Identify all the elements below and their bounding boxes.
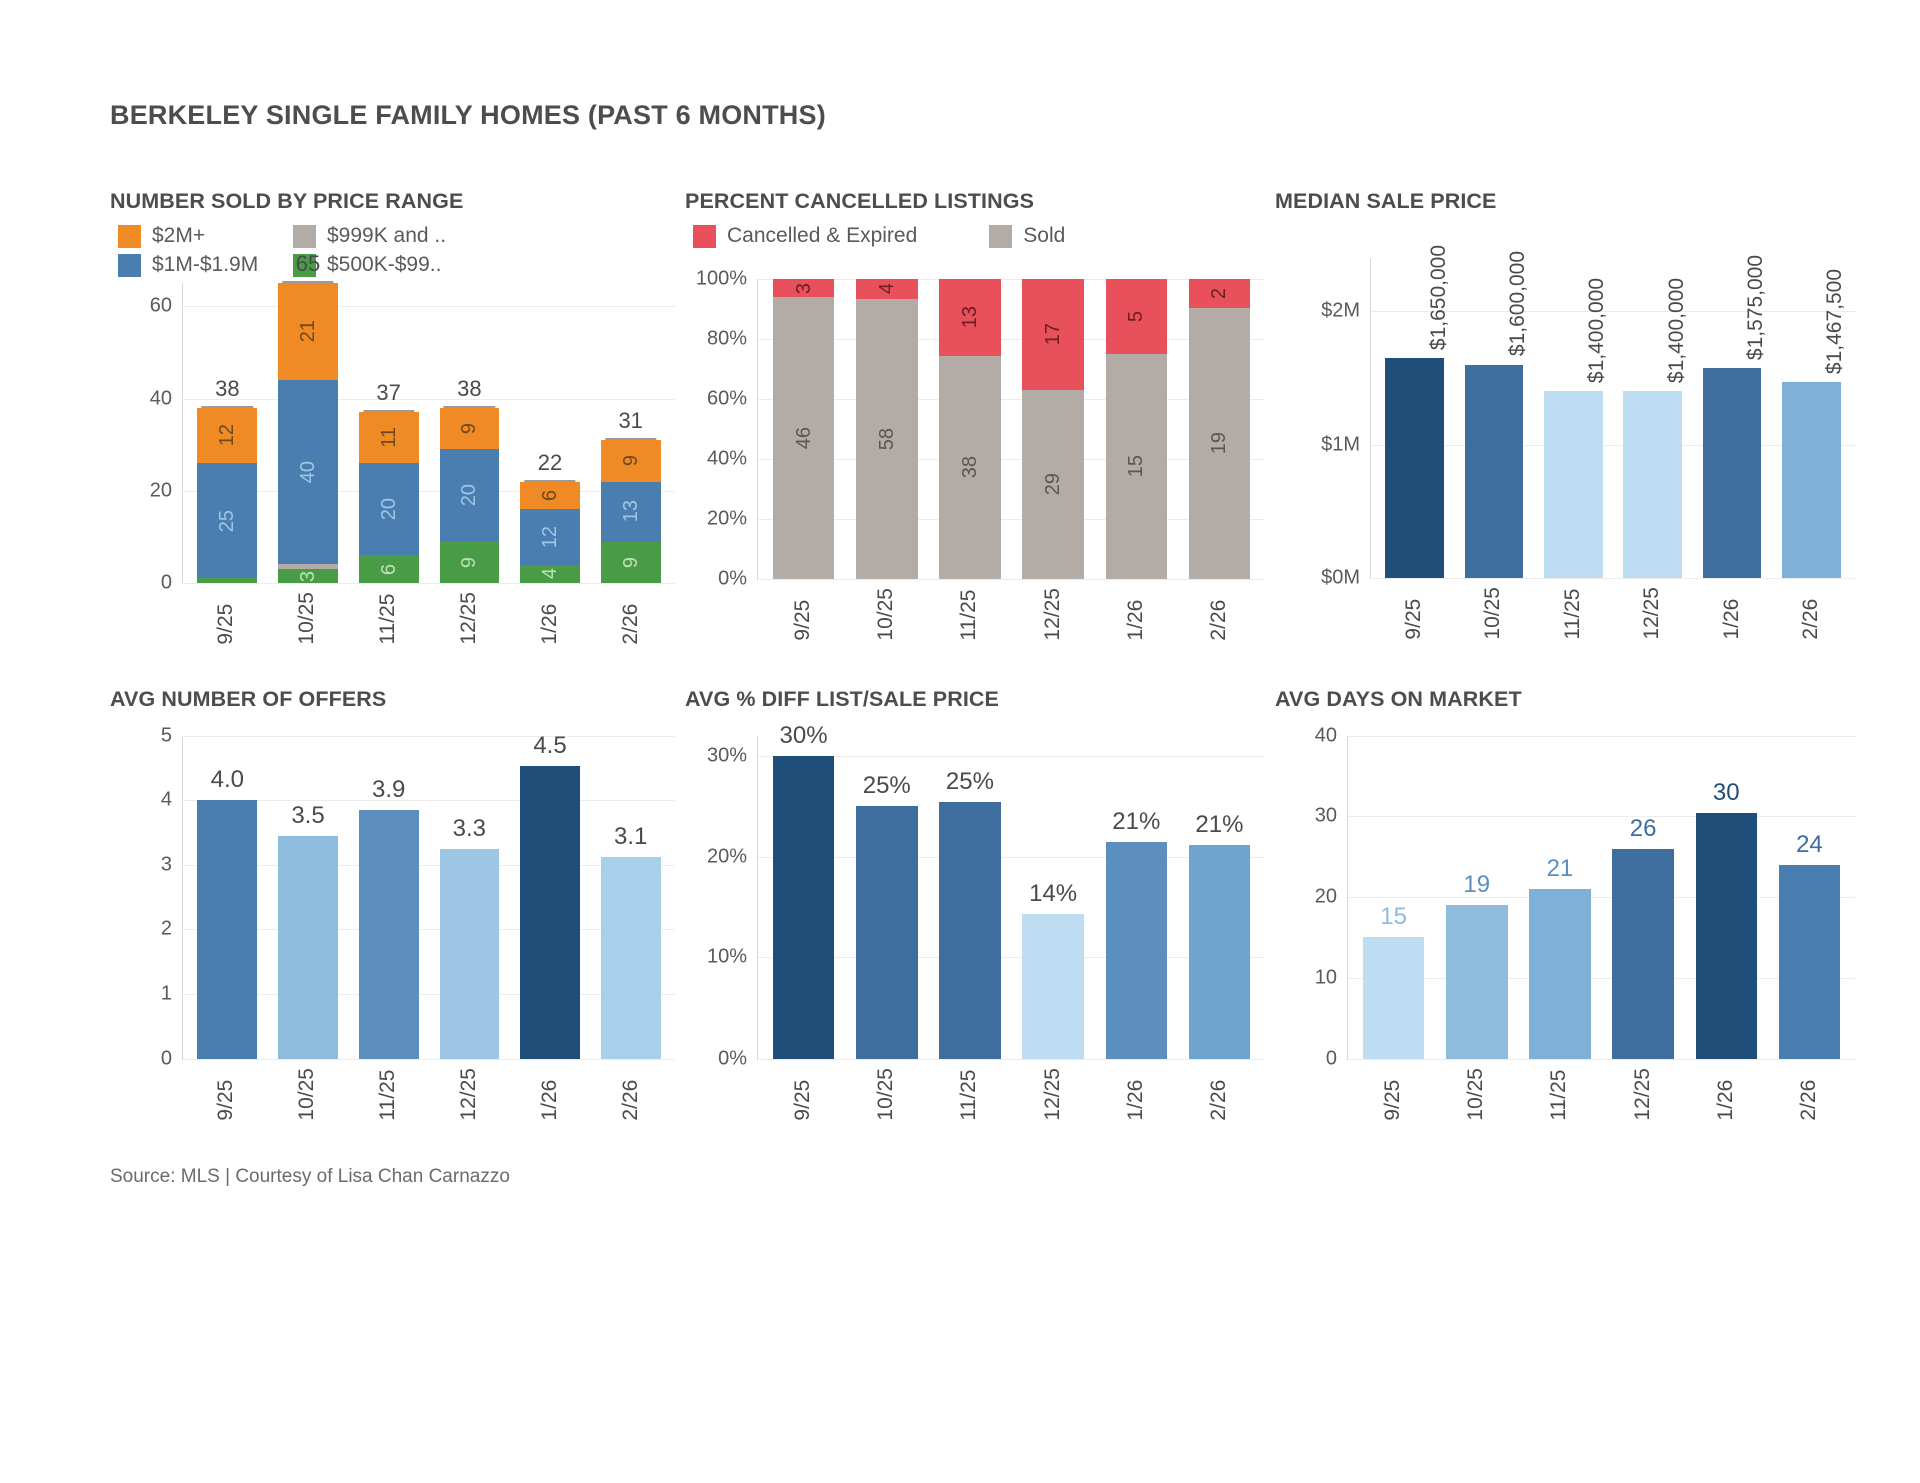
ytick-5: 5 [161,724,172,747]
ytick-80: 80% [707,328,747,351]
bar-avg-dom: 15 [1363,937,1425,1058]
ytick-0: 0 [161,1047,172,1070]
xaxis-avg-offers: 9/25 10/25 11/25 12/25 1/26 2/26 [182,1068,675,1121]
stacked-bar: 5 15 [1106,279,1168,579]
chart-title-avg-offers: AVG NUMBER OF OFFERS [110,687,675,712]
bar-slot-9-25[interactable]: 15 [1352,736,1435,1059]
xtick: 12/25 [428,1068,509,1121]
legend-label-1m-19m: $1M-$1.9M [152,253,258,277]
bar-slot-11-25[interactable]: $1,400,000 [1534,258,1613,578]
bar-slot-12-25[interactable]: 17 29 [1012,279,1095,579]
xtick: 12/25 [1011,1068,1094,1121]
ytick-20: 20 [150,479,172,502]
yaxis-avg-diff: 0% 10% 20% 30% [685,736,757,1059]
panel-median-price: MEDIAN SALE PRICE $0M $1M $2M $1,650,000 [1275,189,1855,645]
chart-title-avg-diff: AVG % DIFF LIST/SALE PRICE [685,687,1265,712]
legend-item-cancelled-expired[interactable]: Cancelled & Expired [693,224,917,248]
bar-slot-2-26[interactable]: 31 9 13 9 [590,283,671,583]
segment-sold: 29 [1022,390,1084,579]
segment-sold: 38 [939,356,1001,580]
xtick: 10/25 [1434,1068,1517,1121]
legend-label-2m-plus: $2M+ [152,224,205,248]
legend-item-sold[interactable]: Sold [989,224,1065,248]
xtick: 1/26 [1094,1068,1177,1121]
segment-label: 20 [379,498,399,520]
stacked-bar: 3 46 [773,279,835,579]
bars-avg-dom: 15 19 21 [1348,736,1855,1059]
panel-avg-dom: AVG DAYS ON MARKET 0 10 20 30 40 [1275,687,1855,1121]
segment-label: 9 [459,423,479,434]
bar-avg-dom: 21 [1529,889,1591,1059]
bar-slot-11-25[interactable]: 13 38 [928,279,1011,579]
bar-avg-diff: 30% [773,756,835,1059]
legend-label-cancelled-expired: Cancelled & Expired [727,224,917,248]
bar-value-label: 24 [1796,831,1823,859]
segment-1m-19m: 20 [359,463,419,555]
bar-value-label: 3.5 [291,802,324,830]
bar-slot-9-25[interactable]: 3 46 [762,279,845,579]
bar-total-label: 31 [571,408,691,434]
bar-median-price: $1,600,000 [1465,365,1524,578]
segment-label: 46 [794,427,814,449]
bar-slot-9-25[interactable]: 30% [762,736,845,1059]
bar-avg-dom: 24 [1779,865,1841,1059]
bar-slot-2-26[interactable]: 3.1 [590,736,671,1059]
segment-label: 5 [1126,311,1146,322]
bar-median-price: $1,467,500 [1782,382,1841,578]
chart-percent-cancelled: 0% 20% 40% 60% 80% 100% [685,279,1265,579]
xtick: 9/25 [1374,587,1454,640]
bar-value-label: $1,400,000 [1665,278,1689,383]
ytick-60: 60 [150,295,172,318]
ytick-40: 40 [1315,724,1337,747]
stacked-bar: 4 58 [856,279,918,579]
stacked-bar: 17 29 [1022,279,1084,579]
bar-value-label: 3.9 [372,776,405,804]
segment-label: 3 [794,283,814,294]
bar-slot-10-25[interactable]: $1,600,000 [1454,258,1533,578]
bar-slot-10-25[interactable]: 65 21 40 3 [268,283,349,583]
ytick-4: 4 [161,789,172,812]
legend-percent-cancelled: Cancelled & Expired Sold [693,224,1265,248]
segment-label: 9 [459,557,479,568]
legend-item-2m-plus[interactable]: $2M+ [118,224,293,248]
ytick-2: 2 [161,918,172,941]
segment-500k [197,578,257,583]
xtick: 1/26 [509,592,590,645]
xtick: 12/25 [428,592,509,645]
yaxis-number-sold: 0 20 40 60 [110,283,182,583]
ytick-0: 0 [1326,1047,1337,1070]
bar-value-label: $1,400,000 [1585,278,1609,383]
segment-sold: 19 [1189,308,1251,580]
bar-value-label: $1,650,000 [1427,245,1451,350]
gridline [758,1059,1265,1060]
panel-number-sold: NUMBER SOLD BY PRICE RANGE $2M+ $999K an… [110,189,675,645]
bar-slot-12-25[interactable]: $1,400,000 [1613,258,1692,578]
bar-value-label: 3.1 [614,823,647,851]
xtick: 2/26 [1178,1068,1261,1121]
bar-avg-offers: 3.1 [601,857,661,1059]
bar-slot-12-25[interactable]: 14% [1012,736,1095,1059]
xaxis-percent-cancelled: 9/25 10/25 11/25 12/25 1/26 2/26 [757,588,1265,641]
segment-label: 25 [217,510,237,532]
xaxis-number-sold: 9/25 10/25 11/25 12/25 1/26 2/26 [182,592,675,645]
plot-number-sold: 38 12 25 65 21 40 [182,283,675,583]
bars-number-sold: 38 12 25 65 21 40 [183,283,675,583]
bar-value-label: 4.5 [533,732,566,760]
gridline [758,579,1265,580]
bar-slot-12-25[interactable]: 26 [1602,736,1685,1059]
bar-slot-12-25[interactable]: 3.3 [429,736,510,1059]
yaxis-percent-cancelled: 0% 20% 40% 60% 80% 100% [685,279,757,579]
legend-number-sold: $2M+ $999K and .. $1M-$1.9M $500K-$99.. [118,224,675,277]
bar-slot-2-26[interactable]: 24 [1768,736,1851,1059]
legend-swatch-red [693,225,716,248]
ytick-0m: $0M [1321,567,1360,590]
stacked-bar: 31 9 13 9 [601,440,661,583]
bar-slot-1-26[interactable]: 5 15 [1095,279,1178,579]
xtick: 10/25 [1454,587,1534,640]
plot-avg-diff: 30% 25% 25% [757,736,1265,1059]
ytick-30: 30 [1315,805,1337,828]
xtick: 12/25 [1613,587,1693,640]
bar-avg-dom: 26 [1612,849,1674,1059]
bar-slot-2-26[interactable]: 21% [1178,736,1261,1059]
bar-avg-offers: 3.3 [440,849,500,1058]
bar-value-label: 3.3 [453,815,486,843]
chart-avg-diff: 0% 10% 20% 30% 30% [685,736,1265,1059]
bar-value-label: $1,575,000 [1744,255,1768,360]
xtick: 9/25 [186,1068,267,1121]
chart-title-median-price: MEDIAN SALE PRICE [1275,189,1855,214]
bar-median-price: $1,400,000 [1544,391,1603,578]
segment-label: 29 [1043,473,1063,495]
segment-2m-plus: 21 [278,283,338,380]
segment-1m-19m: 12 [520,509,580,564]
segment-2m-plus: 11 [359,412,419,463]
bar-avg-diff: 21% [1189,845,1251,1058]
bar-avg-diff: 21% [1106,842,1168,1059]
segment-cancelled: 2 [1189,279,1251,308]
xaxis-median-price: 9/25 10/25 11/25 12/25 1/26 2/26 [1370,587,1855,640]
gridline [1371,578,1855,579]
bar-avg-offers: 4.5 [520,766,580,1058]
chart-avg-dom: 0 10 20 30 40 15 [1275,736,1855,1059]
bar-total-label: 65 [248,251,368,277]
segment-label: 20 [459,484,479,506]
xtick: 2/26 [1768,1068,1851,1121]
segment-label: 17 [1043,323,1063,345]
bar-slot-12-25[interactable]: 38 9 20 9 [429,283,510,583]
chart-grid: NUMBER SOLD BY PRICE RANGE $2M+ $999K an… [110,189,1810,1120]
segment-sold: 15 [1106,354,1168,579]
bar-slot-9-25[interactable]: 38 12 25 [187,283,268,583]
xtick: 1/26 [1094,588,1177,641]
segment-500k: 4 [520,565,580,583]
segment-label: 21 [298,320,318,342]
bars-avg-offers: 4.0 3.5 3.9 [183,736,675,1059]
segment-label: 13 [621,500,641,522]
page-title: BERKELEY SINGLE FAMILY HOMES (PAST 6 MON… [110,100,1810,131]
ytick-40: 40% [707,448,747,471]
segment-cancelled: 3 [773,279,835,297]
bar-slot-10-25[interactable]: 3.5 [268,736,349,1059]
xtick: 2/26 [1772,587,1852,640]
xtick: 11/25 [348,592,429,645]
bar-avg-diff: 25% [939,802,1001,1059]
bar-slot-11-25[interactable]: 25% [928,736,1011,1059]
ytick-1: 1 [161,982,172,1005]
segment-label: 6 [379,564,399,575]
xtick: 9/25 [761,588,844,641]
legend-swatch-blue [118,254,141,277]
stacked-bar: 13 38 [939,279,1001,579]
bar-slot-9-25[interactable]: $1,650,000 [1375,258,1454,578]
bar-slot-1-26[interactable]: 30 [1685,736,1768,1059]
segment-label: 12 [217,424,237,446]
segment-sold: 58 [856,299,918,580]
plot-percent-cancelled: 3 46 4 58 13 [757,279,1265,579]
bar-slot-10-25[interactable]: 25% [845,736,928,1059]
bars-percent-cancelled: 3 46 4 58 13 [758,279,1265,579]
xaxis-avg-diff: 9/25 10/25 11/25 12/25 1/26 2/26 [757,1068,1265,1121]
ytick-3: 3 [161,853,172,876]
plot-avg-dom: 15 19 21 [1347,736,1855,1059]
segment-cancelled: 13 [939,279,1001,356]
bar-value-label: 30% [780,722,828,750]
xtick: 11/25 [928,1068,1011,1121]
plot-median-price: $1,650,000 $1,600,000 $1,400,000 [1370,258,1855,578]
chart-title-percent-cancelled: PERCENT CANCELLED LISTINGS [685,189,1265,214]
stacked-bar: 38 9 20 9 [440,408,500,584]
ytick-0: 0% [718,1047,747,1070]
bar-slot-2-26[interactable]: $1,467,500 [1772,258,1851,578]
bar-value-label: 25% [863,772,911,800]
bar-avg-offers: 3.5 [278,836,338,1059]
bar-value-label: 21% [1195,811,1243,839]
segment-label: 6 [540,490,560,501]
segment-label: 3 [298,571,318,582]
segment-2m-plus: 9 [440,408,500,450]
panel-avg-diff: AVG % DIFF LIST/SALE PRICE 0% 10% 20% 30… [685,687,1265,1121]
ytick-60: 60% [707,388,747,411]
bar-avg-dom: 19 [1446,905,1508,1058]
yaxis-avg-offers: 0 1 2 3 4 5 [110,736,182,1059]
segment-500k: 6 [359,555,419,583]
legend-item-999k[interactable]: $999K and .. [293,224,675,248]
segment-label: 40 [298,461,318,483]
chart-title-avg-dom: AVG DAYS ON MARKET [1275,687,1855,712]
bar-slot-10-25[interactable]: 19 [1435,736,1518,1059]
bar-value-label: 15 [1380,903,1407,931]
xtick: 10/25 [267,1068,348,1121]
ytick-2m: $2M [1321,300,1360,323]
bar-value-label: 21 [1547,855,1574,883]
xtick: 1/26 [1692,587,1772,640]
segment-1m-19m: 13 [601,482,661,542]
xtick: 11/25 [1518,1068,1601,1121]
source-text: Source: MLS | Courtesy of Lisa Chan Carn… [110,1166,1810,1188]
panel-percent-cancelled: PERCENT CANCELLED LISTINGS Cancelled & E… [685,189,1265,645]
segment-label: 58 [877,428,897,450]
gridline [183,583,675,584]
segment-label: 4 [877,283,897,294]
bar-avg-dom: 30 [1696,813,1758,1058]
segment-cancelled: 17 [1022,279,1084,390]
xtick: 2/26 [590,592,671,645]
segment-label: 13 [960,306,980,328]
bar-slot-2-26[interactable]: 2 19 [1178,279,1261,579]
bar-value-label: 25% [946,768,994,796]
chart-number-sold: 0 20 40 60 38 12 [110,283,675,583]
bar-value-label: 21% [1112,808,1160,836]
xtick: 1/26 [1684,1068,1767,1121]
segment-2m-plus: 12 [197,408,257,463]
ytick-30: 30% [707,744,747,767]
gridline [1348,1059,1855,1060]
chart-title-number-sold: NUMBER SOLD BY PRICE RANGE [110,189,675,214]
bar-avg-diff: 25% [856,806,918,1058]
chart-median-price: $0M $1M $2M $1,650,000 [1275,258,1855,578]
segment-cancelled: 5 [1106,279,1168,354]
ytick-10: 10 [1315,966,1337,989]
segment-label: 12 [540,526,560,548]
xtick: 11/25 [928,588,1011,641]
bar-value-label: 19 [1463,871,1490,899]
segment-1m-19m: 40 [278,380,338,565]
panel-avg-offers: AVG NUMBER OF OFFERS 0 1 2 3 4 5 [110,687,675,1121]
xtick: 9/25 [761,1068,844,1121]
stacked-bar: 2 19 [1189,279,1251,579]
segment-label: 9 [621,557,641,568]
bar-slot-1-26[interactable]: $1,575,000 [1692,258,1771,578]
segment-2m-plus: 6 [520,482,580,510]
bar-slot-11-25[interactable]: 3.9 [348,736,429,1059]
bar-median-price: $1,650,000 [1385,358,1444,578]
bar-value-label: 4.0 [211,766,244,794]
legend-swatch-grey [989,225,1012,248]
segment-label: 15 [1126,455,1146,477]
bar-avg-offers: 3.9 [359,810,419,1059]
xtick: 10/25 [844,1068,927,1121]
bar-slot-11-25[interactable]: 21 [1518,736,1601,1059]
bars-median-price: $1,650,000 $1,600,000 $1,400,000 [1371,258,1855,578]
stacked-bar: 65 21 40 3 [278,283,338,583]
legend-label-999k: $999K and .. [327,224,446,248]
xtick: 11/25 [348,1068,429,1121]
legend-label-sold: Sold [1023,224,1065,248]
bar-median-price: $1,400,000 [1623,391,1682,578]
bars-avg-diff: 30% 25% 25% [758,736,1265,1059]
segment-label: 19 [1209,432,1229,454]
segment-label: 9 [621,455,641,466]
xtick: 2/26 [590,1068,671,1121]
bar-avg-diff: 14% [1022,914,1084,1059]
segment-label: 4 [540,568,560,579]
bar-median-price: $1,575,000 [1703,368,1762,578]
segment-label: 11 [379,427,399,448]
yaxis-median-price: $0M $1M $2M [1275,258,1370,578]
bar-slot-10-25[interactable]: 4 58 [845,279,928,579]
xtick: 9/25 [186,592,267,645]
ytick-0: 0 [161,572,172,595]
xaxis-avg-dom: 9/25 10/25 11/25 12/25 1/26 2/26 [1347,1068,1855,1121]
segment-500k: 3 [278,569,338,583]
stacked-bar: 22 6 12 4 [520,482,580,583]
segment-500k: 9 [440,541,500,583]
yaxis-avg-dom: 0 10 20 30 40 [1275,736,1347,1059]
ytick-20: 20% [707,508,747,531]
xtick: 10/25 [844,588,927,641]
legend-swatch-orange [118,225,141,248]
ytick-1m: $1M [1321,433,1360,456]
bar-value-label: 14% [1029,880,1077,908]
ytick-0: 0% [718,568,747,591]
stacked-bar: 38 12 25 [197,408,257,584]
bar-value-label: 30 [1713,779,1740,807]
bar-slot-11-25[interactable]: 37 11 20 6 [348,283,429,583]
ytick-20: 20 [1315,886,1337,909]
segment-label: 38 [960,456,980,478]
segment-1m-19m: 25 [197,463,257,578]
plot-avg-offers: 4.0 3.5 3.9 [182,736,675,1059]
segment-500k: 9 [601,542,661,583]
ytick-100: 100% [696,268,747,291]
segment-sold: 46 [773,297,835,579]
ytick-10: 10% [707,946,747,969]
bar-avg-offers: 4.0 [197,800,257,1058]
dashboard: BERKELEY SINGLE FAMILY HOMES (PAST 6 MON… [0,0,1920,1188]
xtick: 12/25 [1601,1068,1684,1121]
bar-value-label: 26 [1630,815,1657,843]
ytick-20: 20% [707,845,747,868]
xtick: 2/26 [1178,588,1261,641]
bar-value-label: $1,467,500 [1823,269,1847,374]
bar-value-label: $1,600,000 [1506,251,1530,356]
segment-2m-plus: 9 [601,440,661,481]
chart-avg-offers: 0 1 2 3 4 5 [110,736,675,1059]
gridline [183,1059,675,1060]
bar-slot-1-26[interactable]: 21% [1095,736,1178,1059]
xtick: 1/26 [509,1068,590,1121]
xtick: 9/25 [1351,1068,1434,1121]
xtick: 11/25 [1533,587,1613,640]
stacked-bar: 37 11 20 6 [359,412,419,583]
segment-label: 2 [1209,288,1229,299]
bar-slot-1-26[interactable]: 4.5 [510,736,591,1059]
legend-swatch-grey [293,225,316,248]
xtick: 10/25 [267,592,348,645]
bar-slot-9-25[interactable]: 4.0 [187,736,268,1059]
segment-cancelled: 4 [856,279,918,299]
xtick: 12/25 [1011,588,1094,641]
